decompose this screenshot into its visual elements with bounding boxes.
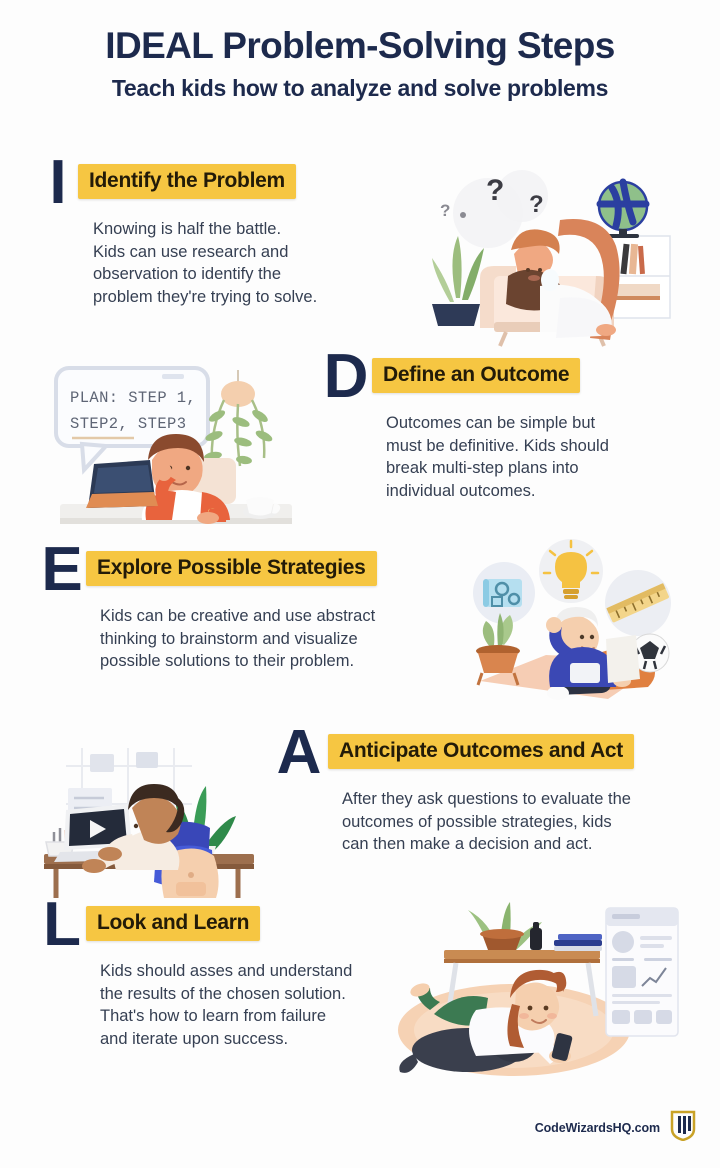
step-letter: D [320, 352, 372, 403]
step-heading: Identify the Problem [78, 164, 296, 199]
step-letter-row: I Identify the Problem [38, 158, 390, 209]
step-body: Kids can be creative and use abstract th… [100, 605, 468, 673]
step-item-look: L Look and Learn Kids should asses and u… [38, 900, 706, 1084]
step-body: Outcomes can be simple but must be defin… [386, 412, 698, 503]
svg-text:?: ? [486, 174, 504, 207]
step-heading-wrap: Look and Learn [86, 900, 260, 941]
step-text-define: D Define an Outcome Outcomes can be simp… [320, 352, 698, 503]
step-heading: Anticipate Outcomes and Act [328, 734, 634, 769]
step-item-identify: I Identify the Problem Knowing is half t… [38, 158, 698, 348]
girl-on-rug-with-phone-and-cat-illustration [390, 894, 680, 1084]
step-letter: E [38, 545, 86, 596]
step-heading-wrap: Anticipate Outcomes and Act [328, 728, 634, 769]
step-letter-row: A Anticipate Outcomes and Act [270, 728, 700, 779]
step-text-explore: E Explore Possible Strategies Kids can b… [38, 545, 468, 673]
step-letter: I [38, 158, 78, 209]
student-at-laptop-with-backpack-illustration [32, 732, 270, 902]
step-heading-wrap: Define an Outcome [372, 352, 580, 393]
page-title: IDEAL Problem-Solving Steps [0, 26, 720, 67]
svg-text:?: ? [529, 191, 544, 218]
footer-brand: CodeWizardsHQ.com [535, 1109, 696, 1146]
step-text-anticipate: A Anticipate Outcomes and Act After they… [270, 728, 700, 856]
step-text-identify: I Identify the Problem Knowing is half t… [38, 158, 390, 309]
step-heading-wrap: Explore Possible Strategies [86, 545, 377, 586]
student-at-desk-with-plan-speech-bubble-illustration: PLAN: STEP 1, STEP2, STEP3 [42, 360, 314, 540]
step-body: Kids should asses and understand the res… [100, 960, 408, 1051]
step-heading-wrap: Identify the Problem [78, 158, 296, 199]
infographic-poster: IDEAL Problem-Solving Steps Teach kids h… [0, 0, 720, 1168]
svg-text:?: ? [440, 201, 450, 220]
step-item-define: D Define an Outcome Outcomes can be simp… [22, 352, 698, 540]
step-letter: A [270, 728, 328, 779]
person-in-armchair-thinking-illustration: ? ? ? [410, 158, 680, 348]
page-subtitle: Teach kids how to analyze and solve prob… [0, 75, 720, 102]
step-item-explore: E Explore Possible Strategies Kids can b… [38, 545, 706, 715]
step-letter-row: L Look and Learn [38, 900, 408, 951]
poster-header: IDEAL Problem-Solving Steps Teach kids h… [0, 0, 720, 102]
svg-text:PLAN: STEP 1,: PLAN: STEP 1, [70, 389, 196, 407]
brand-name: CodeWizardsHQ.com [535, 1121, 660, 1135]
step-letter-row: E Explore Possible Strategies [38, 545, 468, 596]
child-with-idea-icons-illustration [454, 535, 704, 715]
svg-text:STEP2, STEP3: STEP2, STEP3 [70, 415, 186, 433]
step-heading: Explore Possible Strategies [86, 551, 377, 586]
step-heading: Look and Learn [86, 906, 260, 941]
step-letter-row: D Define an Outcome [320, 352, 698, 403]
step-heading: Define an Outcome [372, 358, 580, 393]
step-letter: L [38, 900, 86, 951]
shield-logo [670, 1109, 696, 1146]
step-item-anticipate: A Anticipate Outcomes and Act After they… [18, 728, 700, 902]
step-body: Knowing is half the battle. Kids can use… [93, 218, 390, 309]
step-text-look: L Look and Learn Kids should asses and u… [38, 900, 408, 1051]
step-body: After they ask questions to evaluate the… [342, 788, 700, 856]
